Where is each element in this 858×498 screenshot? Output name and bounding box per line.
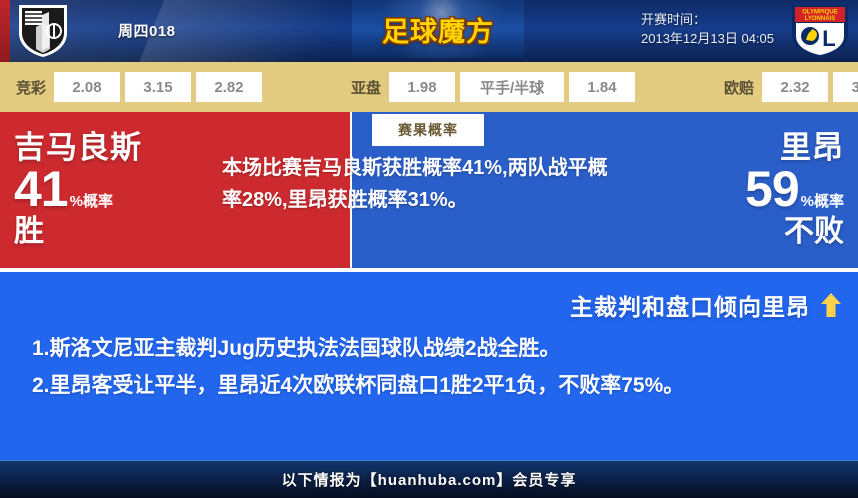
odds-group-jingcai: 竞彩 2.08 3.15 2.82 (16, 72, 267, 102)
odds-group-label: 欧赔 (724, 77, 754, 98)
match-preview-card: 周四018 足球魔方 开赛时间： 2013年12月13日 04:05 OLYMP… (0, 0, 858, 498)
odds-group-asian: 亚盘 1.98 平手/半球 1.84 (351, 72, 640, 102)
odds-cell-away[interactable]: 2.82 (196, 72, 262, 102)
odds-cell-draw[interactable]: 3.15 (125, 72, 191, 102)
svg-text:OLYMPIQUE: OLYMPIQUE (802, 10, 837, 16)
kickoff-value: 2013年12月13日 04:05 (641, 29, 774, 48)
tab-result-probability[interactable]: 赛果概率 (372, 114, 484, 146)
home-probability-value: 41 (14, 164, 68, 214)
brand-logo-text: 足球魔方 (382, 10, 494, 49)
odds-cell-handicap[interactable]: 平手/半球 (460, 72, 564, 102)
match-header: 周四018 足球魔方 开赛时间： 2013年12月13日 04:05 OLYMP… (0, 0, 858, 62)
home-probability-block: 吉马良斯 41 %概率 胜 (14, 130, 142, 248)
analysis-headline: 主裁判和盘口倾向里昂 (570, 288, 810, 322)
odds-group-european: 欧赔 2.32 3.18 2.95 (724, 72, 858, 102)
analysis-points: 1.斯洛文尼亚主裁判Jug历史执法法国球队战绩2战全胜。 2.里昂客受让平半，里… (32, 330, 834, 404)
odds-group-label: 竞彩 (16, 77, 46, 98)
away-probability-block: 里昂 59 %概率 不败 (745, 130, 844, 248)
olympique-lyonnais-crest: OLYMPIQUE LYONNAIS L (788, 2, 852, 60)
probability-summary: 本场比赛吉马良斯获胜概率41%,两队战平概率28%,里昂获胜概率31%。 (222, 152, 622, 216)
odds-cell-draw[interactable]: 3.18 (833, 72, 858, 102)
brand-logo: 足球魔方 (352, 0, 524, 58)
analysis-headline-row: 主裁判和盘口倾向里昂 (570, 288, 842, 322)
member-notice-text: 以下情报为【huanhuba.com】会员专享 (282, 469, 577, 490)
away-probability-value: 59 (745, 164, 799, 214)
odds-bar: 竞彩 2.08 3.15 2.82 亚盘 1.98 平手/半球 1.84 欧赔 … (0, 62, 858, 112)
arrow-up-icon (820, 292, 842, 318)
analysis-section: 主裁判和盘口倾向里昂 1.斯洛文尼亚主裁判Jug历史执法法国球队战绩2战全胜。 … (0, 272, 858, 460)
home-outcome-label: 胜 (14, 215, 142, 248)
round-label: 周四018 (118, 20, 176, 41)
away-probability-unit: %概率 (801, 190, 844, 211)
away-outcome-label: 不败 (745, 215, 844, 248)
vitoria-guimaraes-crest (16, 3, 70, 59)
home-probability-unit: %概率 (70, 190, 113, 211)
odds-cell-home[interactable]: 2.08 (54, 72, 120, 102)
kickoff-info: 开赛时间： 2013年12月13日 04:05 (641, 10, 774, 48)
odds-group-label: 亚盘 (351, 77, 381, 98)
svg-text:LYONNAIS: LYONNAIS (805, 16, 835, 22)
odds-cell-away[interactable]: 1.84 (569, 72, 635, 102)
member-notice-bar: 以下情报为【huanhuba.com】会员专享 (0, 460, 858, 498)
svg-text:L: L (822, 26, 835, 51)
odds-cell-home[interactable]: 2.32 (762, 72, 828, 102)
analysis-point: 1.斯洛文尼亚主裁判Jug历史执法法国球队战绩2战全胜。 (32, 330, 834, 367)
tab-result-probability-label: 赛果概率 (398, 120, 458, 140)
odds-cell-home[interactable]: 1.98 (389, 72, 455, 102)
kickoff-label: 开赛时间： (641, 10, 774, 29)
analysis-point: 2.里昂客受让平半，里昂近4次欧联杯同盘口1胜2平1负，不败率75%。 (32, 367, 834, 404)
